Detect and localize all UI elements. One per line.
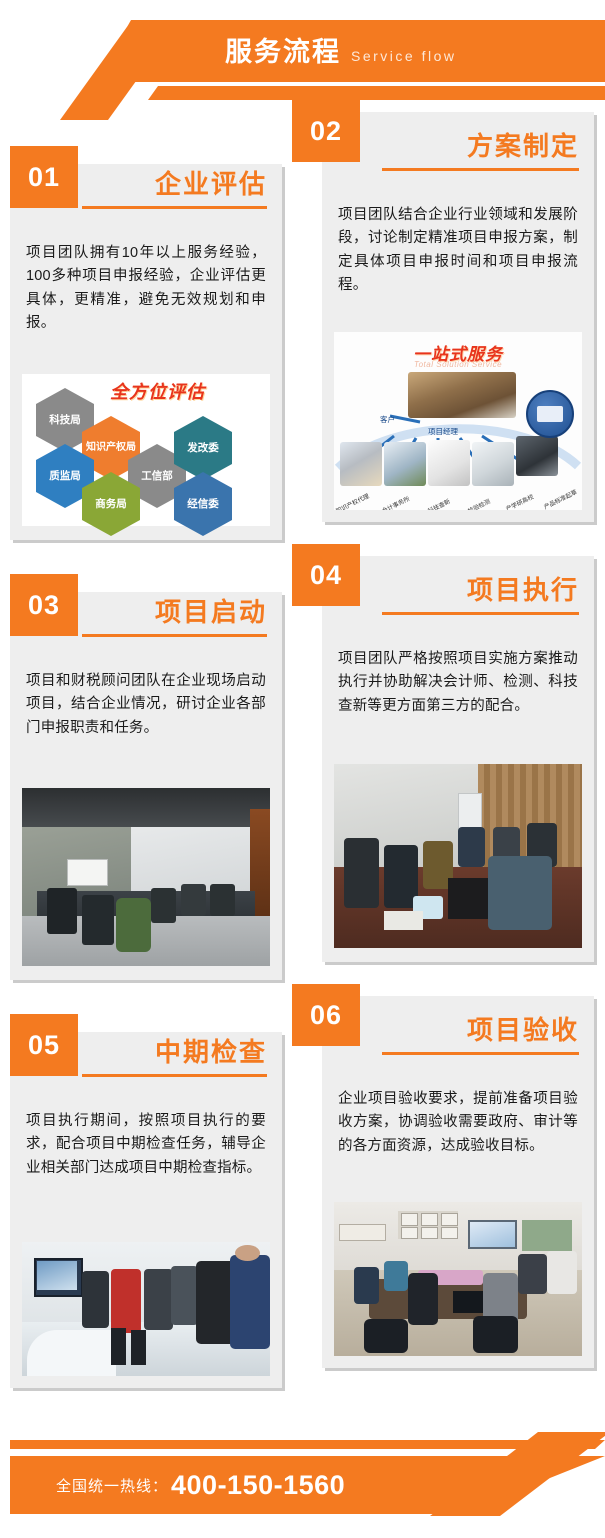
hotline-number[interactable]: 400-150-1560: [171, 1470, 345, 1501]
step-photo-06: [334, 1202, 582, 1356]
oss-thumb-2: [384, 442, 426, 486]
oss-node-customer: 客户: [380, 414, 395, 425]
step-header: 项目验收: [382, 1010, 579, 1055]
step-card-01[interactable]: 01 企业评估 项目团队拥有10年以上服务经验，100多种项目申报经验，企业评估…: [10, 164, 282, 540]
step-photo-05: [22, 1242, 270, 1376]
footer-accent-line: [10, 1440, 605, 1449]
service-flow-page: 服务流程 Service flow 01 企业评估 项目团队拥有10年以上服务经…: [0, 0, 605, 1538]
title-underline: [82, 634, 267, 637]
oss-caption-1: 知识产权代理: [334, 491, 370, 510]
title-underline: [82, 1074, 267, 1077]
step-number-badge: 06: [292, 984, 360, 1046]
page-title: 服务流程: [225, 32, 341, 72]
oss-caption-4: 检验检测: [466, 496, 492, 510]
step-card-04[interactable]: 04 项目执行 项目团队严格按照项目实施方案推动执行并协助解决会计师、检测、科技…: [322, 556, 594, 962]
hexagon-diagram: 全方位评估 科技局 知识产权局 质监局 工信部 发改委 商务局 经信委: [22, 374, 270, 526]
step-number-badge: 05: [10, 1014, 78, 1076]
one-stop-service-diagram: 一站式服务 Total Solution Service 客户 项目经理: [334, 332, 582, 510]
step-number-badge: 03: [10, 574, 78, 636]
title-underline: [82, 206, 267, 209]
oss-node-manager: 项目经理: [428, 426, 458, 437]
footer-hotline: 全国统一热线： 400-150-1560: [56, 1456, 345, 1514]
step-description: 项目执行期间，按照项目执行的要求，配合项目中期检查任务，辅导企业相关部门达成项目…: [26, 1110, 266, 1180]
step-description: 项目团队拥有10年以上服务经验，100多种项目申报经验，企业评估更具体，更精准，…: [26, 242, 266, 336]
oss-caption-5: 产学研高校: [504, 492, 535, 510]
step-description: 项目和财税顾问团队在企业现场启动项目，结合企业情况，研讨企业各部门申报职责和任务…: [26, 670, 266, 740]
step-card-05[interactable]: 05 中期检查 项目执行期间，按照项目执行的要求，配合项目中期检查任务，辅导企业…: [10, 1032, 282, 1388]
oss-thumb-3: [428, 440, 470, 486]
step-photo-03: [22, 788, 270, 966]
page-subtitle: Service flow: [351, 36, 456, 76]
step-card-06[interactable]: 06 项目验收 企业项目验收要求，提前准备项目验收方案，协调验收需要政府、审计等…: [322, 996, 594, 1368]
step-title: 企业评估: [82, 164, 267, 206]
step-number-badge: 02: [292, 100, 360, 162]
step-header: 中期检查: [82, 1032, 267, 1077]
step-header: 方案制定: [382, 126, 579, 171]
step-title: 方案制定: [382, 126, 579, 168]
oss-certification-seal-icon: [526, 390, 574, 438]
oss-caption-2: 会计事务所: [380, 494, 411, 510]
step-card-03[interactable]: 03 项目启动 项目和财税顾问团队在企业现场启动项目，结合企业情况，研讨企业各部…: [10, 592, 282, 980]
step-header: 项目启动: [82, 592, 267, 637]
hexagon-diagram-heading: 全方位评估: [110, 378, 260, 404]
title-underline: [382, 612, 579, 615]
title-underline: [382, 168, 579, 171]
oss-caption-3: 科技查新: [426, 496, 452, 510]
step-photo-04: [334, 764, 582, 948]
step-header: 项目执行: [382, 570, 579, 615]
oss-subheading: Total Solution Service: [334, 360, 582, 369]
oss-caption-6: 产品标准起草: [542, 487, 578, 510]
page-footer: 全国统一热线： 400-150-1560: [0, 1408, 605, 1538]
step-description: 项目团队结合企业行业领域和发展阶段，讨论制定精准项目申报方案，制定具体项目申报时…: [338, 204, 578, 298]
step-description: 项目团队严格按照项目实施方案推动执行并协助解决会计师、检测、科技查新等更方面第三…: [338, 648, 578, 718]
hotline-label: 全国统一热线：: [56, 1475, 168, 1496]
step-number-badge: 04: [292, 544, 360, 606]
oss-thumb-4: [472, 442, 514, 486]
step-title: 项目启动: [82, 592, 267, 634]
step-title: 项目验收: [382, 1010, 579, 1052]
header-title-group: 服务流程 Service flow: [225, 32, 456, 72]
step-title: 中期检查: [82, 1032, 267, 1074]
oss-thumb-5: [516, 436, 558, 476]
step-header: 企业评估: [82, 164, 267, 209]
oss-thumb-1: [340, 442, 382, 486]
step-number-badge: 01: [10, 146, 78, 208]
title-underline: [382, 1052, 579, 1055]
step-description: 企业项目验收要求，提前准备项目验收方案，协调验收需要政府、审计等的各方面资源，达…: [338, 1088, 578, 1158]
step-card-02[interactable]: 02 方案制定 项目团队结合企业行业领域和发展阶段，讨论制定精准项目申报方案，制…: [322, 112, 594, 522]
step-title: 项目执行: [382, 570, 579, 612]
